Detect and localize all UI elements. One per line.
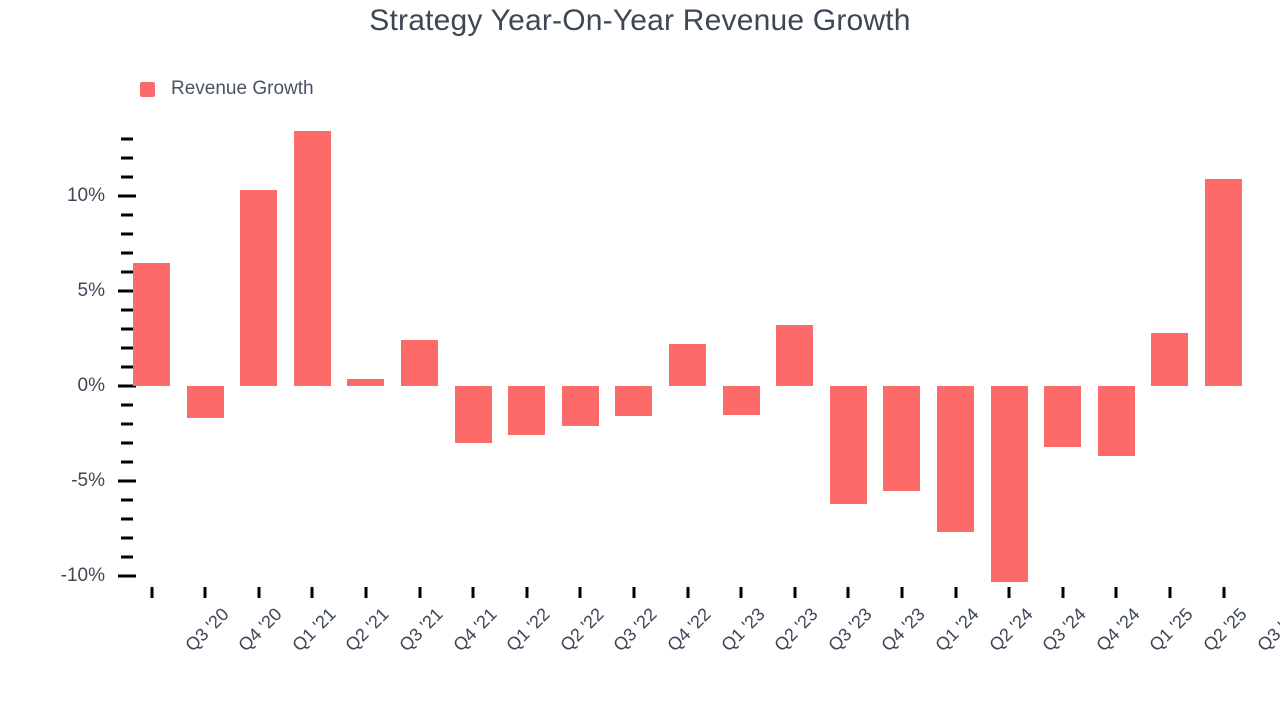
x-axis-tick: [847, 587, 850, 598]
y-axis: 10%5%0%-5%-10%: [10, 0, 105, 720]
y-axis-label: 0%: [78, 375, 105, 397]
x-axis-tick: [525, 587, 528, 598]
y-axis-minor-tick: [121, 271, 133, 274]
x-axis-tick: [311, 587, 314, 598]
y-axis-minor-tick: [121, 138, 133, 141]
x-axis-label: Q4 '24: [1092, 604, 1144, 656]
x-axis-label: Q1 '25: [1146, 604, 1198, 656]
y-axis-minor-tick: [121, 499, 133, 502]
x-axis-label: Q3 '25: [1253, 604, 1280, 656]
y-axis-label: 5%: [78, 280, 105, 302]
x-axis-label: Q2 '25: [1199, 604, 1251, 656]
y-axis-minor-tick: [121, 423, 133, 426]
y-axis-minor-tick: [121, 518, 133, 521]
y-axis-minor-tick: [121, 309, 133, 312]
y-axis-label: 10%: [67, 185, 105, 207]
x-axis-tick: [900, 587, 903, 598]
x-axis-tick: [364, 587, 367, 598]
x-axis-label: Q2 '21: [342, 604, 394, 656]
x-axis-tick: [740, 587, 743, 598]
x-axis-tick: [1222, 587, 1225, 598]
y-axis-major-tick: [118, 575, 136, 578]
bar[interactable]: [883, 386, 920, 491]
bar[interactable]: [455, 386, 492, 443]
y-axis-minor-tick: [121, 404, 133, 407]
x-axis-label: Q4 '23: [878, 604, 930, 656]
x-axis-tick: [1115, 587, 1118, 598]
x-axis-label: Q4 '20: [234, 604, 286, 656]
y-axis-label: -10%: [61, 565, 105, 587]
x-axis-tick: [686, 587, 689, 598]
x-axis-label: Q1 '24: [931, 604, 983, 656]
bar[interactable]: [615, 386, 652, 416]
x-axis-label: Q3 '20: [181, 604, 233, 656]
x-axis-label: Q2 '24: [985, 604, 1037, 656]
y-axis-major-tick: [118, 195, 136, 198]
bar[interactable]: [401, 340, 438, 386]
bar[interactable]: [1151, 333, 1188, 386]
x-axis-label: Q1 '23: [717, 604, 769, 656]
y-axis-minor-tick: [121, 537, 133, 540]
bar[interactable]: [1205, 179, 1242, 386]
bar[interactable]: [723, 386, 760, 415]
bar[interactable]: [508, 386, 545, 435]
x-axis-tick: [472, 587, 475, 598]
chart-container: Strategy Year-On-Year Revenue Growth Rev…: [0, 0, 1280, 720]
x-axis-label: Q3 '22: [610, 604, 662, 656]
bar[interactable]: [187, 386, 224, 418]
x-axis-label: Q1 '22: [502, 604, 554, 656]
bar[interactable]: [669, 344, 706, 386]
bar[interactable]: [991, 386, 1028, 582]
y-axis-minor-tick: [121, 442, 133, 445]
x-axis-label: Q3 '23: [824, 604, 876, 656]
bar[interactable]: [562, 386, 599, 426]
y-axis-minor-tick: [121, 556, 133, 559]
x-axis-tick: [204, 587, 207, 598]
y-axis-minor-tick: [121, 252, 133, 255]
x-axis-label: Q4 '22: [663, 604, 715, 656]
bar[interactable]: [937, 386, 974, 532]
y-axis-minor-tick: [121, 461, 133, 464]
x-axis-label: Q2 '22: [556, 604, 608, 656]
x-axis-label: Q3 '21: [395, 604, 447, 656]
x-axis-tick: [257, 587, 260, 598]
bar[interactable]: [347, 379, 384, 386]
bar[interactable]: [776, 325, 813, 386]
bar[interactable]: [1044, 386, 1081, 447]
y-axis-minor-tick: [121, 233, 133, 236]
x-axis-label: Q2 '23: [770, 604, 822, 656]
y-axis-minor-tick: [121, 328, 133, 331]
x-axis-tick: [150, 587, 153, 598]
x-axis-label: Q1 '21: [288, 604, 340, 656]
x-axis-tick: [632, 587, 635, 598]
bar[interactable]: [830, 386, 867, 504]
x-axis-tick: [418, 587, 421, 598]
x-axis-tick: [579, 587, 582, 598]
y-axis-minor-tick: [121, 366, 133, 369]
x-axis-label: Q4 '21: [449, 604, 501, 656]
plot-area: 10%5%0%-5%-10% Q3 '20Q4 '20Q1 '21Q2 '21Q…: [0, 0, 1280, 720]
x-axis-tick: [793, 587, 796, 598]
y-axis-minor-tick: [121, 214, 133, 217]
y-axis-minor-tick: [121, 347, 133, 350]
x-axis-tick: [1168, 587, 1171, 598]
bar[interactable]: [133, 263, 170, 387]
y-axis-label: -5%: [71, 470, 105, 492]
bar[interactable]: [294, 131, 331, 386]
x-axis-tick: [1008, 587, 1011, 598]
x-axis-tick: [1061, 587, 1064, 598]
x-axis-tick: [954, 587, 957, 598]
y-axis-minor-tick: [121, 157, 133, 160]
x-axis-label: Q3 '24: [1038, 604, 1090, 656]
y-axis-major-tick: [118, 480, 136, 483]
bar[interactable]: [240, 190, 277, 386]
bar[interactable]: [1098, 386, 1135, 456]
y-axis-minor-tick: [121, 176, 133, 179]
